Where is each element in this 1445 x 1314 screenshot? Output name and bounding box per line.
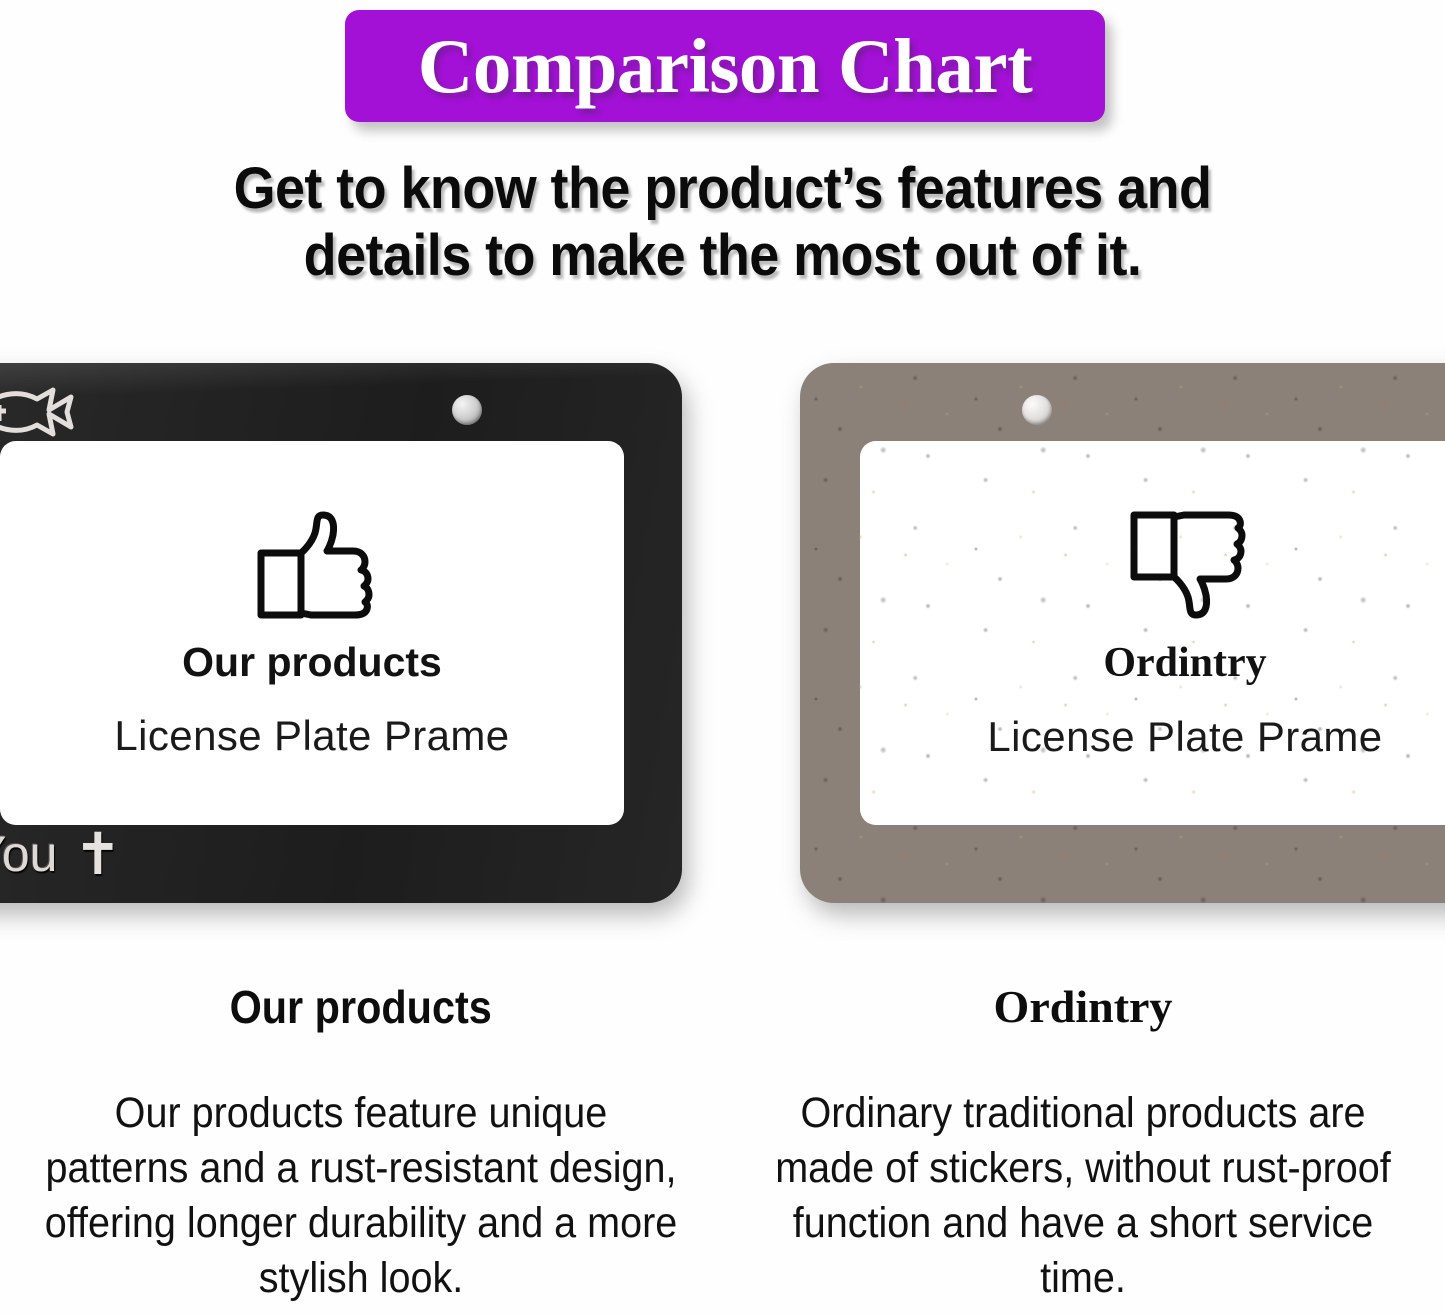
frame-top-rail-engraving: ohn 3:16	[0, 385, 93, 447]
frame-bottom-rail-text: us Loves You	[0, 829, 58, 879]
our-product-name: Our products	[182, 640, 442, 685]
plate-window-notch	[920, 519, 964, 553]
subtitle: Get to know the product’s features and d…	[51, 155, 1395, 290]
mounting-hole	[1022, 395, 1052, 425]
ordinary-product-window-content: Ordintry License Plate Prame	[860, 441, 1445, 825]
ordinary-product-plate-window: Ordintry License Plate Prame	[860, 441, 1445, 825]
our-product-window-content: Our products License Plate Prame	[0, 441, 624, 825]
ordinary-product-plate-frame: Ordintry License Plate Prame	[800, 363, 1445, 903]
our-product-plate-window: Our products License Plate Prame	[0, 441, 624, 825]
ordinary-product-name: Ordintry	[1103, 640, 1266, 686]
subtitle-line-2: details to make the most out of it.	[51, 222, 1395, 289]
product-frames-row: ohn 3:16 us Loves You ✝	[0, 355, 1445, 915]
frame-bottom-rail-engraving: us Loves You ✝	[0, 825, 122, 883]
comparison-body: Ordinary traditional products are made o…	[761, 1086, 1405, 1306]
comparison-heading: Ordintry	[994, 984, 1173, 1030]
title-banner: Comparison Chart	[345, 10, 1105, 122]
comparison-column-our-products: Our products Our products feature unique…	[0, 970, 722, 1314]
black-frame-surface: ohn 3:16 us Loves You ✝	[0, 363, 682, 903]
ordinary-product-type: License Plate Prame	[987, 714, 1382, 760]
thumbs-up-icon	[249, 506, 375, 624]
subtitle-line-1: Get to know the product’s features and	[51, 155, 1395, 222]
page-title: Comparison Chart	[418, 28, 1032, 105]
comparison-columns: Our products Our products feature unique…	[0, 970, 1445, 1314]
comparison-body: Our products feature unique patterns and…	[39, 1086, 683, 1306]
our-product-plate-frame: ohn 3:16 us Loves You ✝	[0, 363, 682, 903]
ichthys-fish-cross-icon	[0, 385, 93, 447]
mounting-hole	[452, 395, 482, 425]
rust-frame-surface: Ordintry License Plate Prame	[800, 363, 1445, 903]
comparison-column-ordintry: Ordintry Ordinary traditional products a…	[722, 970, 1444, 1314]
plate-window-notch	[118, 519, 162, 553]
comparison-chart-page: Comparison Chart Get to know the product…	[0, 0, 1445, 1314]
title-banner-background: Comparison Chart	[345, 10, 1105, 122]
thumbs-down-icon	[1122, 506, 1248, 624]
latin-cross-icon: ✝	[74, 825, 123, 883]
comparison-heading: Our products	[230, 984, 492, 1030]
our-product-type: License Plate Prame	[114, 713, 509, 759]
